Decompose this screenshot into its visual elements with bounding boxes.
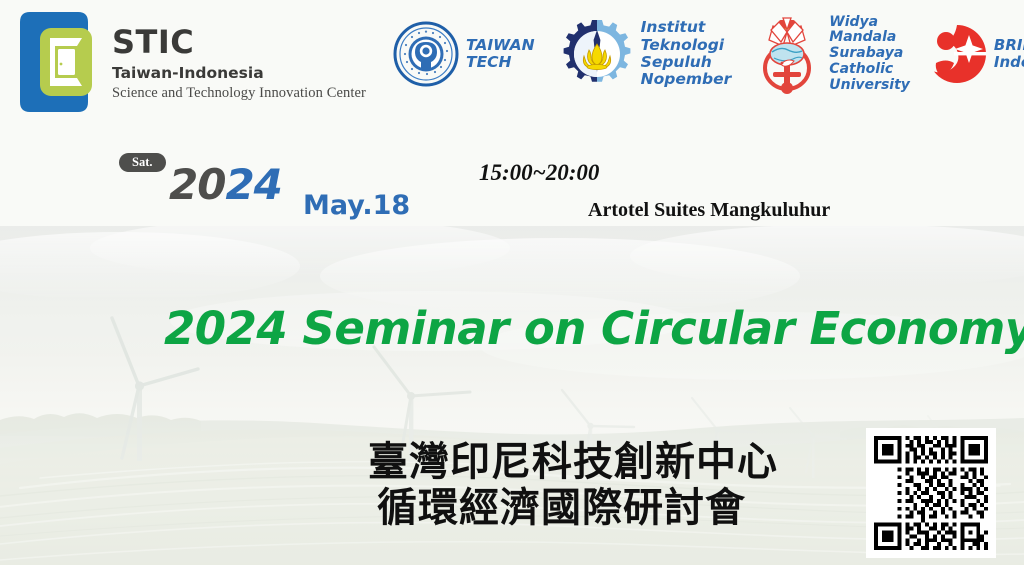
partner-label-line: Sepuluh [641, 54, 732, 71]
header-band: STIC Taiwan-Indonesia Science and Techno… [0, 0, 1024, 226]
partner-label-line: Widya [829, 15, 910, 31]
partner-logos: TAIWAN TECH [392, 2, 1024, 110]
weekday-badge: Sat. [119, 153, 166, 172]
partner-label-line: Surabaya [829, 46, 910, 62]
seminar-poster: STIC Taiwan-Indonesia Science and Techno… [0, 0, 1024, 565]
event-month-day: May.18 [303, 192, 410, 219]
partner-brin-label: BRIN Indonesia [994, 37, 1024, 71]
stic-acronym: STIC [112, 26, 366, 58]
brin-sparkle-icon [926, 23, 988, 85]
partner-taiwan-tech-label: TAIWAN TECH [466, 37, 535, 72]
stic-subtitle-1: Taiwan-Indonesia [112, 65, 366, 82]
partner-taiwan-tech: TAIWAN TECH [392, 2, 535, 106]
stic-mark-icon [8, 8, 104, 116]
partner-label-line: Institut [641, 19, 732, 36]
partner-label-line: University [829, 78, 910, 94]
partner-label-line: Catholic [829, 62, 910, 78]
stic-text-block: STIC Taiwan-Indonesia Science and Techno… [112, 26, 366, 102]
stic-logo-block: STIC Taiwan-Indonesia Science and Techno… [8, 8, 366, 116]
event-year-suffix: 24 [225, 160, 281, 209]
partner-label-line: Mandala [829, 30, 910, 46]
seminar-title-chinese-line2: 循環經濟國際研討會 [377, 485, 778, 531]
taiwan-tech-seal-icon [392, 20, 460, 88]
seminar-title-chinese-line1: 臺灣印尼科技創新中心 [368, 439, 778, 485]
partner-widya-mandala: Widya Mandala Surabaya Catholic Universi… [751, 2, 910, 106]
partner-widya-mandala-label: Widya Mandala Surabaya Catholic Universi… [829, 15, 910, 93]
event-year-prefix: 20 [169, 160, 225, 209]
seminar-title-english: 2024 Seminar on Circular Economy [164, 306, 1024, 351]
event-time-range: 15:00~20:00 [479, 161, 599, 184]
widya-mandala-crest-icon [751, 12, 823, 96]
seminar-title-chinese: 臺灣印尼科技創新中心 循環經濟國際研討會 [368, 439, 778, 532]
partner-label-line: TECH [466, 54, 535, 71]
qr-code-image [866, 428, 996, 558]
partner-its-label: Institut Teknologi Sepuluh Nopember [641, 19, 732, 88]
event-year: 2024 [169, 164, 282, 206]
event-venue: Artotel Suites Mangkuluhur [588, 200, 830, 220]
partner-brin: BRIN Indonesia [926, 2, 1024, 106]
partner-label-line: Nopember [641, 71, 732, 88]
partner-label-line: Teknologi [641, 37, 732, 54]
registration-qr-code[interactable] [866, 428, 996, 558]
stic-subtitle-2: Science and Technology Innovation Center [112, 86, 366, 102]
partner-label-line: TAIWAN [466, 37, 535, 54]
partner-label-line: BRIN [994, 37, 1024, 54]
partner-label-line: Indonesia [994, 54, 1024, 71]
its-gear-lotus-icon [559, 16, 635, 92]
partner-its: Institut Teknologi Sepuluh Nopember [559, 2, 732, 106]
